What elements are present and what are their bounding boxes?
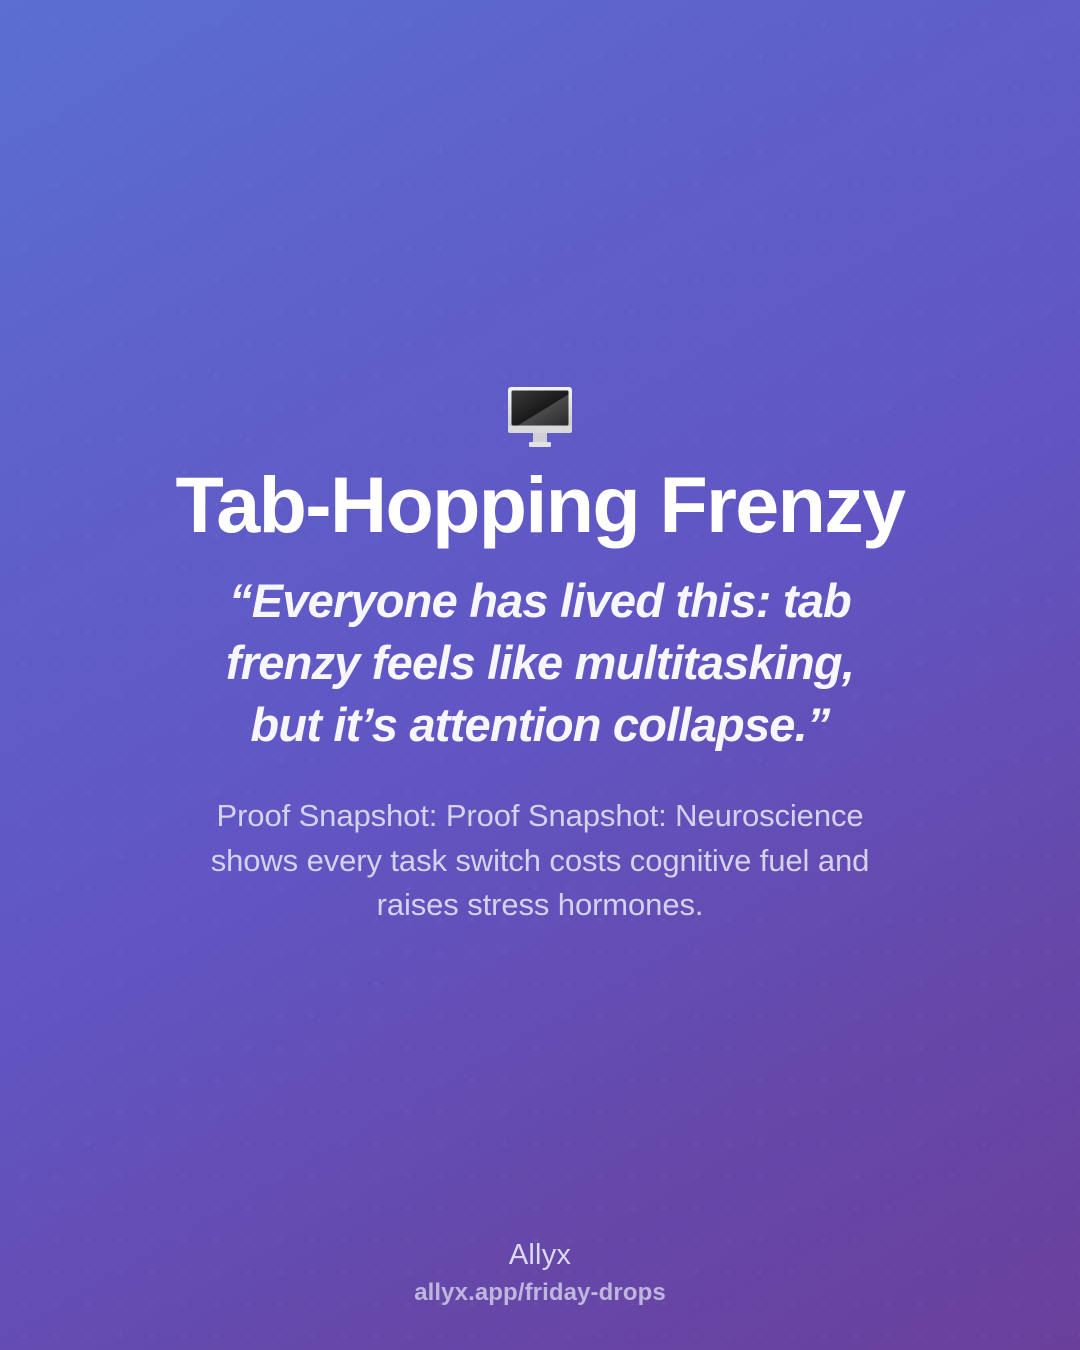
footer: Allyx allyx.app/friday-drops (0, 1237, 1080, 1308)
card-content: Tab-Hopping Frenzy “Everyone has lived t… (0, 0, 1080, 927)
desktop-computer-icon (504, 382, 576, 454)
footer-url[interactable]: allyx.app/friday-drops (414, 1279, 666, 1308)
proof-snapshot-text: Proof Snapshot: Proof Snapshot: Neurosci… (80, 794, 1000, 927)
quote-text: “Everyone has lived this: tab frenzy fee… (90, 570, 990, 756)
page-title: Tab-Hopping Frenzy (116, 464, 965, 546)
footer-brand-name: Allyx (509, 1237, 571, 1273)
social-card: Tab-Hopping Frenzy “Everyone has lived t… (0, 0, 1080, 1350)
